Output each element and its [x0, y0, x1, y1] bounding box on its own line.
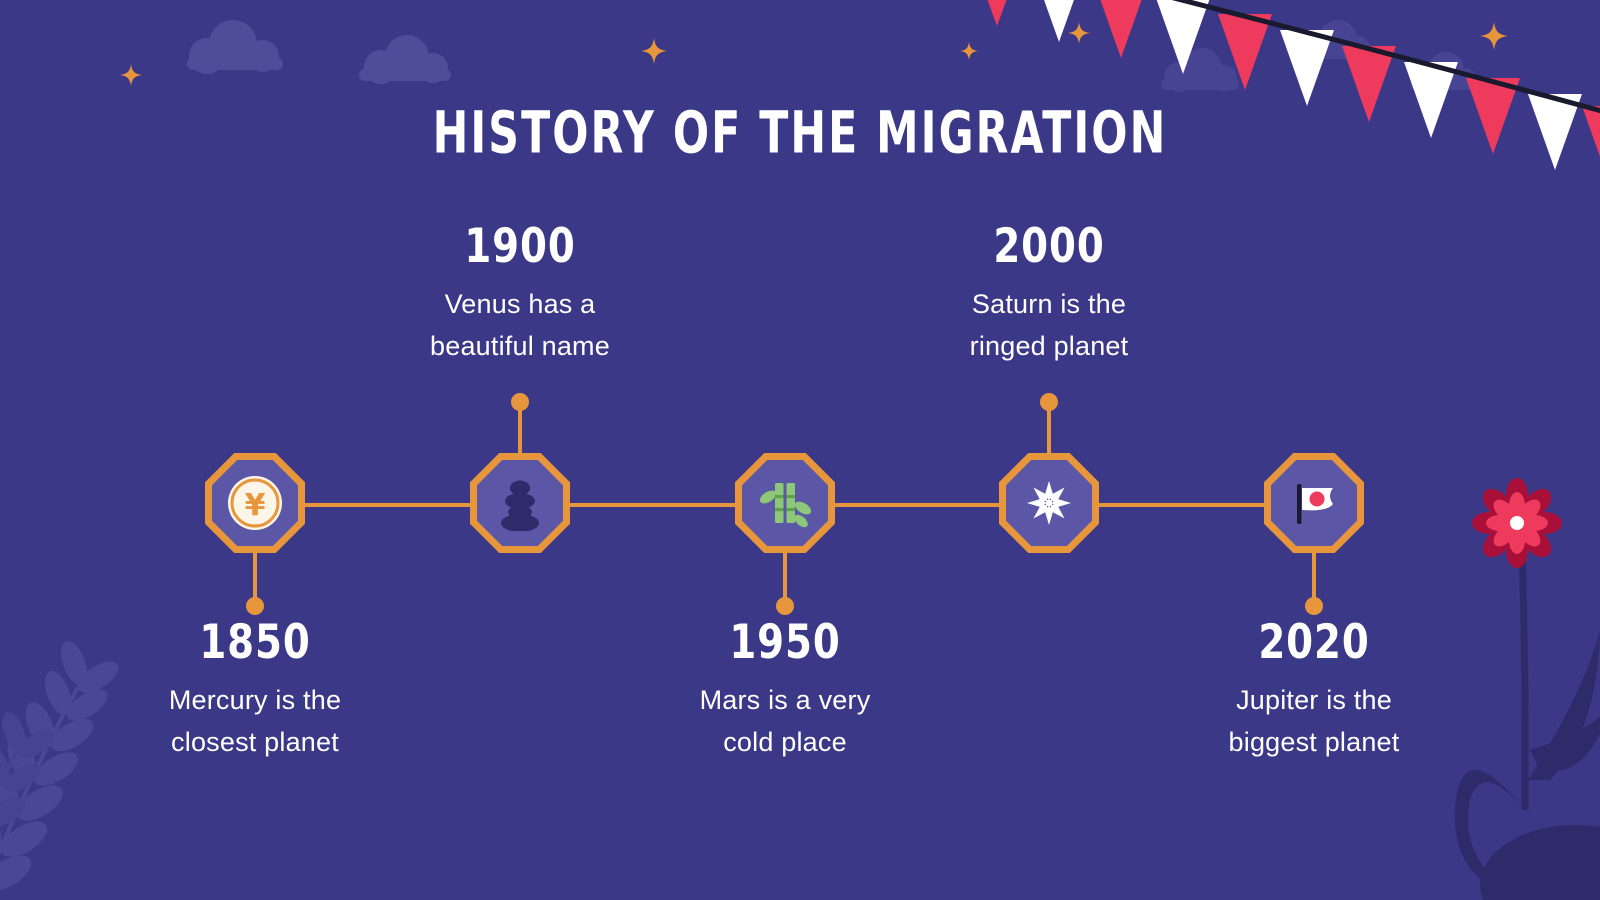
timeline-description: Jupiter is the biggest planet: [1144, 680, 1484, 764]
timeline-connector: [570, 503, 735, 507]
timeline-year: 1850: [105, 618, 404, 668]
timeline-dot: [1305, 597, 1323, 615]
octagon-inner: [477, 460, 563, 546]
timeline: ¥ 1850 Mercury is the closest planet: [0, 0, 1600, 900]
stone-stack-icon: [492, 475, 548, 531]
timeline-connector: [305, 503, 470, 507]
timeline-label-1950: 1950 Mars is a very cold place: [615, 620, 955, 764]
timeline-label-1900: 1900 Venus has a beautiful name: [350, 224, 690, 368]
timeline-description-line2: biggest planet: [1144, 722, 1484, 764]
timeline-label-2000: 2000 Saturn is the ringed planet: [879, 224, 1219, 368]
timeline-node-1850[interactable]: ¥: [205, 453, 305, 553]
timeline-description: Mercury is the closest planet: [85, 680, 425, 764]
timeline-description: Mars is a very cold place: [615, 680, 955, 764]
timeline-node-2020[interactable]: [1264, 453, 1364, 553]
timeline-label-1850: 1850 Mercury is the closest planet: [85, 620, 425, 764]
timeline-description-line1: Jupiter is the: [1144, 680, 1484, 722]
timeline-node-2000[interactable]: [999, 453, 1099, 553]
yen-coin-icon: ¥: [226, 474, 284, 532]
slide-canvas: HISTORY OF THE MIGRATION ¥ 1850 Mercury …: [0, 0, 1600, 900]
timeline-connector: [835, 503, 999, 507]
octagon-inner: ¥: [212, 460, 298, 546]
timeline-label-2020: 2020 Jupiter is the biggest planet: [1144, 620, 1484, 764]
bamboo-icon: [757, 475, 813, 531]
timeline-description-line2: ringed planet: [879, 326, 1219, 368]
timeline-year: 2000: [899, 222, 1198, 272]
timeline-year: 1900: [370, 222, 669, 272]
timeline-description-line1: Venus has a: [350, 284, 690, 326]
timeline-node-1950[interactable]: [735, 453, 835, 553]
timeline-description: Saturn is the ringed planet: [879, 284, 1219, 368]
timeline-year: 2020: [1164, 618, 1463, 668]
timeline-dot: [776, 597, 794, 615]
timeline-dot: [1040, 393, 1058, 411]
timeline-dot: [511, 393, 529, 411]
japan-flag-icon: [1287, 476, 1341, 530]
svg-text:¥: ¥: [245, 488, 266, 523]
octagon-inner: [742, 460, 828, 546]
octagon-inner: [1006, 460, 1092, 546]
timeline-description-line2: cold place: [615, 722, 955, 764]
timeline-year: 1950: [635, 618, 934, 668]
timeline-connector: [1099, 503, 1264, 507]
timeline-dot: [246, 597, 264, 615]
timeline-description-line1: Mars is a very: [615, 680, 955, 722]
timeline-description-line1: Saturn is the: [879, 284, 1219, 326]
timeline-description-line2: beautiful name: [350, 326, 690, 368]
timeline-description-line1: Mercury is the: [85, 680, 425, 722]
timeline-node-1900[interactable]: [470, 453, 570, 553]
timeline-description: Venus has a beautiful name: [350, 284, 690, 368]
timeline-description-line2: closest planet: [85, 722, 425, 764]
octagon-inner: [1271, 460, 1357, 546]
snowflake-icon: [1024, 478, 1074, 528]
